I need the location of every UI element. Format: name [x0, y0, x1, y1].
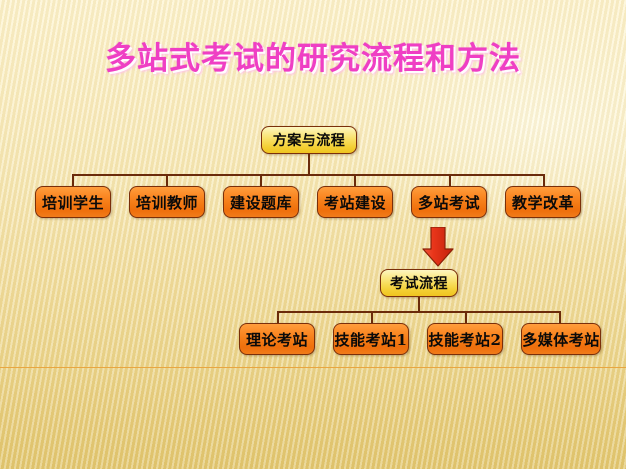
connector-drop-3 [260, 174, 262, 186]
down-arrow-icon [419, 227, 457, 267]
node-label: 多站考试 [418, 192, 480, 213]
connector-level1-bus [72, 174, 545, 176]
node-label: 培训教师 [136, 192, 198, 213]
connector-drop-9 [465, 311, 467, 323]
node-multi-station-exam[interactable]: 多站考试 [411, 186, 487, 218]
node-build-question-bank[interactable]: 建设题库 [223, 186, 299, 218]
node-train-students[interactable]: 培训学生 [35, 186, 111, 218]
connector-drop-10 [559, 311, 561, 323]
connector-drop-8 [371, 311, 373, 323]
node-skill-station-2[interactable]: 技能考站2 [427, 323, 503, 355]
node-build-stations[interactable]: 考站建设 [317, 186, 393, 218]
node-label: 教学改革 [512, 192, 574, 213]
bottom-divider [0, 367, 626, 368]
node-label: 考试流程 [390, 273, 448, 293]
node-label: 多媒体考站 [522, 329, 600, 350]
node-label: 考站建设 [324, 192, 386, 213]
node-multimedia-station[interactable]: 多媒体考站 [521, 323, 601, 355]
connector-level2-bus [277, 311, 560, 313]
node-label: 建设题库 [230, 192, 292, 213]
connector-drop-7 [277, 311, 279, 323]
node-label: 理论考站 [246, 329, 308, 350]
slide-canvas: 多站式考试的研究流程和方法 方案与流程 培训学生 培训教师 建设题库 考站建设 … [0, 0, 626, 469]
node-root-plan-and-process[interactable]: 方案与流程 [261, 126, 357, 154]
connector-root-stem [308, 154, 310, 176]
node-teaching-reform[interactable]: 教学改革 [505, 186, 581, 218]
node-exam-process[interactable]: 考试流程 [380, 269, 458, 297]
node-train-teachers[interactable]: 培训教师 [129, 186, 205, 218]
connector-drop-5 [449, 174, 451, 186]
node-skill-station-1[interactable]: 技能考站1 [333, 323, 409, 355]
node-theory-station[interactable]: 理论考站 [239, 323, 315, 355]
connector-drop-6 [543, 174, 545, 186]
node-label: 技能考站1 [335, 329, 408, 350]
node-label: 培训学生 [42, 192, 104, 213]
connector-drop-4 [354, 174, 356, 186]
connector-drop-2 [166, 174, 168, 186]
connector-drop-1 [72, 174, 74, 186]
page-title: 多站式考试的研究流程和方法 [0, 33, 626, 78]
node-label: 技能考站2 [429, 329, 502, 350]
node-label: 方案与流程 [273, 130, 346, 150]
